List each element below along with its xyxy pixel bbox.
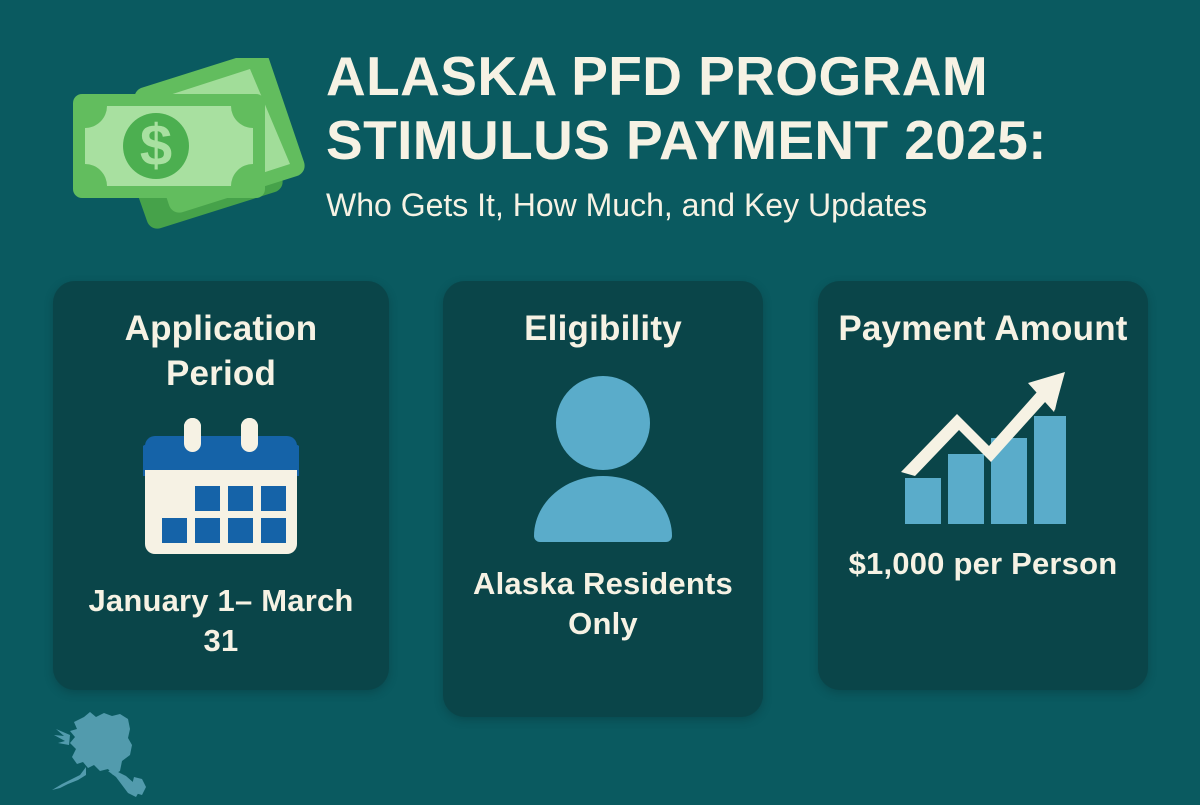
page-title-line-2: STIMULUS PAYMENT 2025: (326, 108, 1146, 172)
svg-text:$: $ (140, 113, 172, 178)
money-stack-icon: $ (55, 58, 310, 233)
calendar-icon (67, 415, 375, 567)
card-title-application-period: Application Period (67, 307, 375, 397)
title-block: ALASKA PFD PROGRAM STIMULUS PAYMENT 2025… (326, 44, 1146, 226)
alaska-state-silhouette-icon (50, 705, 180, 800)
card-title-eligibility: Eligibility (457, 307, 749, 352)
growth-chart-icon (832, 366, 1134, 526)
card-title-payment-amount: Payment Amount (832, 307, 1134, 352)
cards-row: Application Period (0, 281, 1200, 721)
card-value-payment-amount: $1,000 per Person (832, 544, 1134, 584)
page-subtitle: Who Gets It, How Much, and Key Updates (326, 185, 1146, 227)
card-value-eligibility: Alaska Residents Only (457, 564, 749, 645)
page-title-line-1: ALASKA PFD PROGRAM (326, 44, 1146, 108)
card-eligibility[interactable]: Eligibility Alaska Residents Only (443, 281, 763, 717)
infographic-canvas: $ ALASKA PFD PROGRAM STIMULUS PAYMENT 20… (0, 0, 1200, 800)
card-value-application-period: January 1– March 31 (67, 581, 375, 662)
card-payment-amount[interactable]: Payment Amount $1,000 per Person (818, 281, 1148, 690)
header: $ ALASKA PFD PROGRAM STIMULUS PAYMENT 20… (0, 0, 1200, 270)
person-icon (457, 374, 749, 544)
card-application-period[interactable]: Application Period (53, 281, 389, 690)
